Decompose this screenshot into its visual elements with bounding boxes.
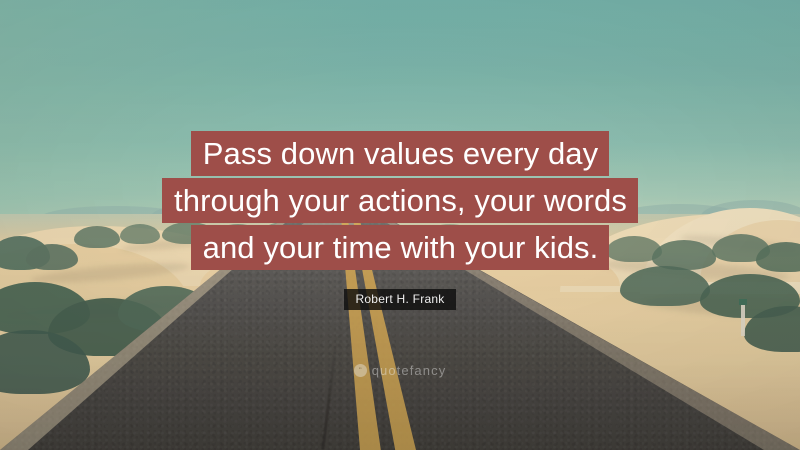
- quote-line: and your time with your kids.: [0, 225, 800, 270]
- quote-poster: Pass down values every day through your …: [0, 0, 800, 450]
- quotefancy-logo-icon: “: [354, 364, 367, 377]
- quote-author: Robert H. Frank: [344, 289, 455, 310]
- watermark-text: quotefancy: [372, 363, 447, 378]
- quote-line: through your actions, your words: [0, 178, 800, 223]
- quote-block: Pass down values every day through your …: [0, 131, 800, 270]
- quote-line-2: through your actions, your words: [162, 178, 638, 223]
- quote-line-3: and your time with your kids.: [191, 225, 610, 270]
- watermark: “ quotefancy: [0, 363, 800, 378]
- quote-line-1: Pass down values every day: [191, 131, 609, 176]
- quote-line: Pass down values every day: [0, 131, 800, 176]
- attribution-block: Robert H. Frank: [0, 289, 800, 310]
